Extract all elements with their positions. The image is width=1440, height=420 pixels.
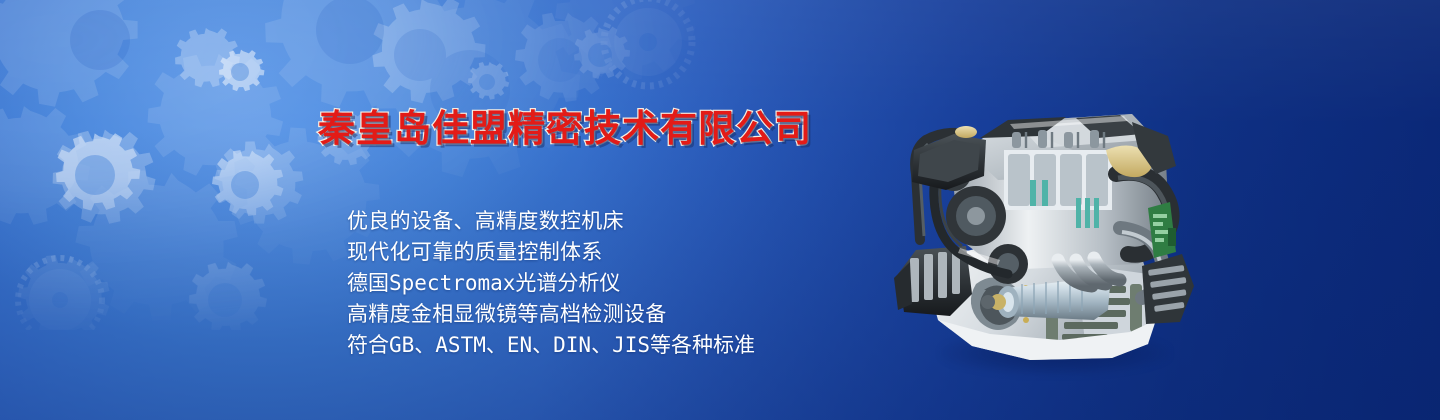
feature-line: 德国Spectromax光谱分析仪 [347,268,867,299]
feature-list: 优良的设备、高精度数控机床 现代化可靠的质量控制体系 德国Spectromax光… [347,206,867,361]
company-banner: 秦皇岛佳盟精密技术有限公司 优良的设备、高精度数控机床 现代化可靠的质量控制体系… [0,0,1440,420]
feature-line: 符合GB、ASTM、EN、DIN、JIS等各种标准 [347,330,867,361]
feature-line: 现代化可靠的质量控制体系 [347,237,867,268]
page-title: 秦皇岛佳盟精密技术有限公司 [318,98,812,152]
feature-line: 优良的设备、高精度数控机床 [347,206,867,237]
engine-cutaway-photo [880,88,1210,378]
feature-line: 高精度金相显微镜等高档检测设备 [347,299,867,330]
